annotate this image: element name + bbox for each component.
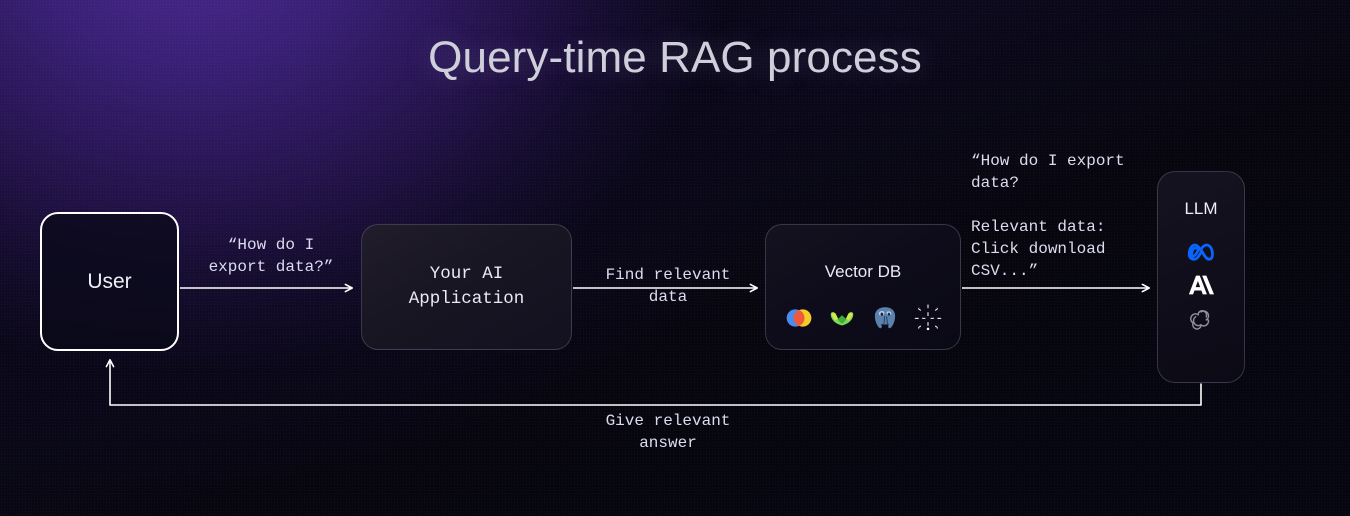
node-ai-application-label: Your AI Application	[409, 262, 525, 312]
postgresql-logo	[870, 303, 900, 333]
mongodb-logo	[784, 303, 814, 333]
node-vector-db-label: Vector DB	[825, 262, 902, 282]
node-ai-application[interactable]: Your AI Application	[361, 224, 572, 350]
openai-logo	[1189, 308, 1213, 332]
anthropic-logo	[1188, 274, 1215, 296]
node-llm[interactable]: LLM	[1157, 171, 1245, 383]
meta-logo	[1186, 241, 1216, 262]
edge-label-db-to-llm: “How do I export data? Relevant data: Cl…	[971, 150, 1161, 282]
node-user-label: User	[87, 270, 131, 294]
node-llm-label: LLM	[1184, 199, 1217, 219]
weaviate-logo	[827, 303, 857, 333]
page-title: Query-time RAG process	[0, 33, 1350, 83]
node-vector-db[interactable]: Vector DB	[765, 224, 961, 350]
edge-label-user-to-app: “How do I export data?”	[186, 234, 356, 278]
node-user[interactable]: User	[40, 212, 179, 351]
llm-logo-column	[1186, 241, 1216, 332]
edge-label-app-to-db: Find relevant data	[578, 264, 758, 308]
edge-label-llm-to-user: Give relevant answer	[568, 410, 768, 454]
pinecone-logo	[913, 303, 943, 333]
vector-db-logo-row	[784, 303, 943, 333]
